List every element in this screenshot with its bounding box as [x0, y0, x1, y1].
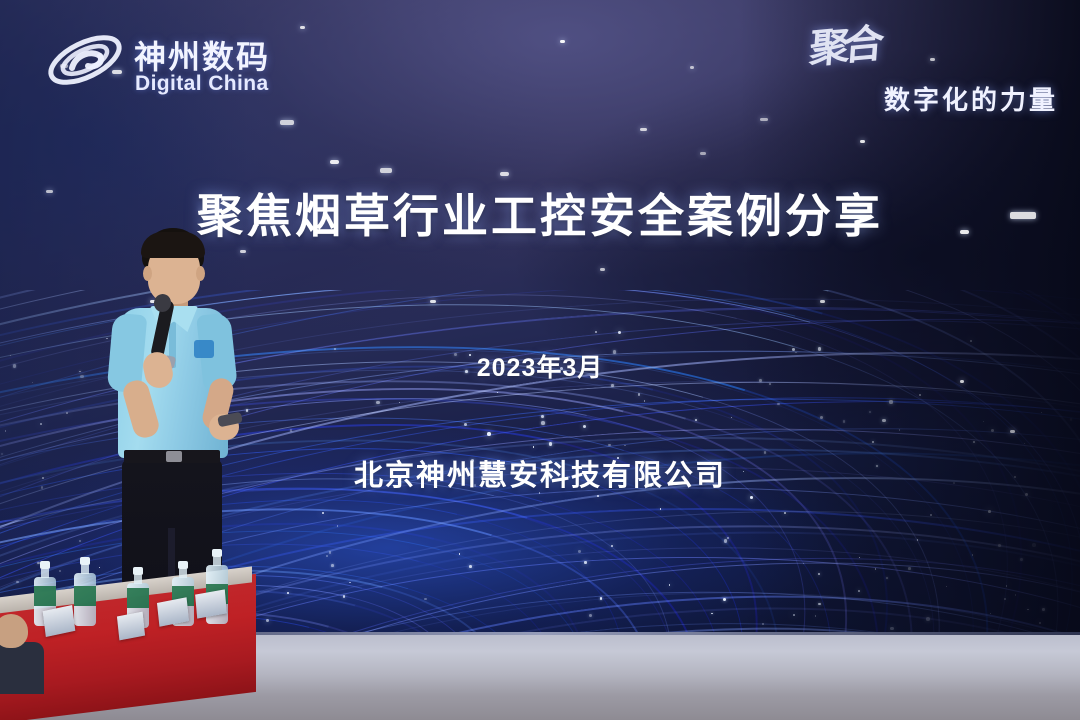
attendee-head	[0, 614, 28, 648]
bottle-cap	[80, 557, 90, 565]
event-tagline: 数字化的力量	[884, 80, 1058, 117]
event-logo: 聚合 数字化的力量	[802, 18, 1058, 114]
water-bottle	[74, 556, 96, 626]
attendee-body	[0, 642, 44, 694]
bottle-cap	[133, 567, 143, 575]
presenter-fringe	[141, 232, 205, 258]
name-card	[117, 612, 145, 641]
bottle-cap	[212, 549, 222, 557]
bottle-neck	[179, 569, 187, 578]
bottle-neck	[213, 557, 221, 566]
bottle-cap	[40, 561, 50, 569]
brand-name-en: Digital China	[135, 72, 269, 96]
event-mark-calligraphy: 聚合	[810, 18, 940, 80]
bottle-cap	[178, 561, 188, 569]
bottle-neck	[81, 565, 89, 574]
bottle-neck	[41, 569, 49, 578]
presenter-shirt-logo	[194, 340, 214, 358]
stage-photo: 聚焦烟草行业工控安全案例分享 2023年3月 北京神州慧安科技有限公司 神州数码…	[0, 0, 1080, 720]
bottle-neck	[134, 575, 142, 584]
bottle-label	[74, 586, 96, 606]
presenter-right-ear	[196, 266, 205, 281]
event-mark-text: 聚合	[808, 11, 881, 75]
presenter-left-ear	[143, 266, 152, 281]
brand-logo: 神州数码 Digital China	[44, 16, 314, 104]
spiral-galaxy-icon	[44, 24, 126, 96]
bottle-label	[127, 588, 149, 608]
bottle-label	[34, 586, 56, 606]
presenter-belt-buckle	[166, 451, 182, 462]
